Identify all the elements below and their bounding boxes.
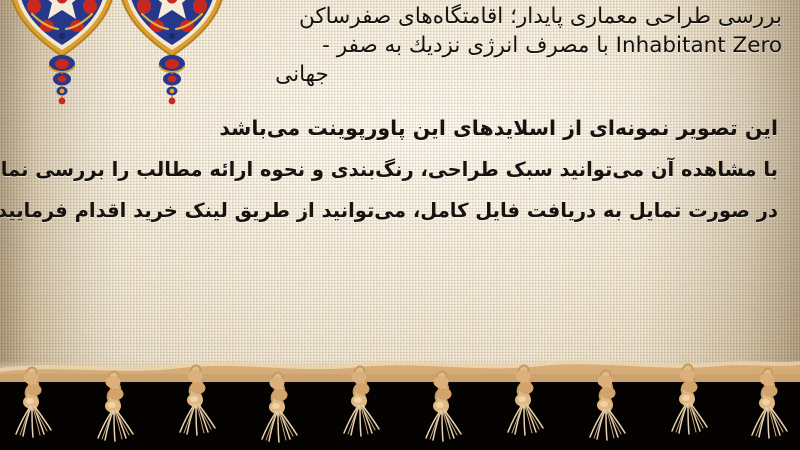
slide-title: بررسی طراحی معماری پایدار؛ اقامتگاه‌های …: [12, 2, 782, 89]
slide-body-line-1: این تصویر نمونه‌ای از اسلایدهای این پاور…: [18, 108, 778, 149]
slide-title-line-1: بررسی طراحی معماری پایدار؛ اقامتگاه‌های …: [12, 2, 782, 31]
slide-body: این تصویر نمونه‌ای از اسلایدهای این پاور…: [18, 108, 778, 231]
slide-title-line-3: جهانی: [12, 60, 782, 89]
slide-title-line-2: Inhabitant Zero با مصرف انرژی نزدیك به ص…: [12, 31, 782, 60]
slide-canvas: بررسی طراحی معماری پایدار؛ اقامتگاه‌های …: [0, 0, 800, 450]
slide-body-line-3: در صورت تمایل به دریافت فایل کامل، می‌تو…: [18, 190, 778, 231]
slide-body-line-2: با مشاهده آن می‌توانید سبک طراحی، رنگ‌بن…: [18, 149, 778, 190]
dark-backdrop: [0, 374, 800, 450]
